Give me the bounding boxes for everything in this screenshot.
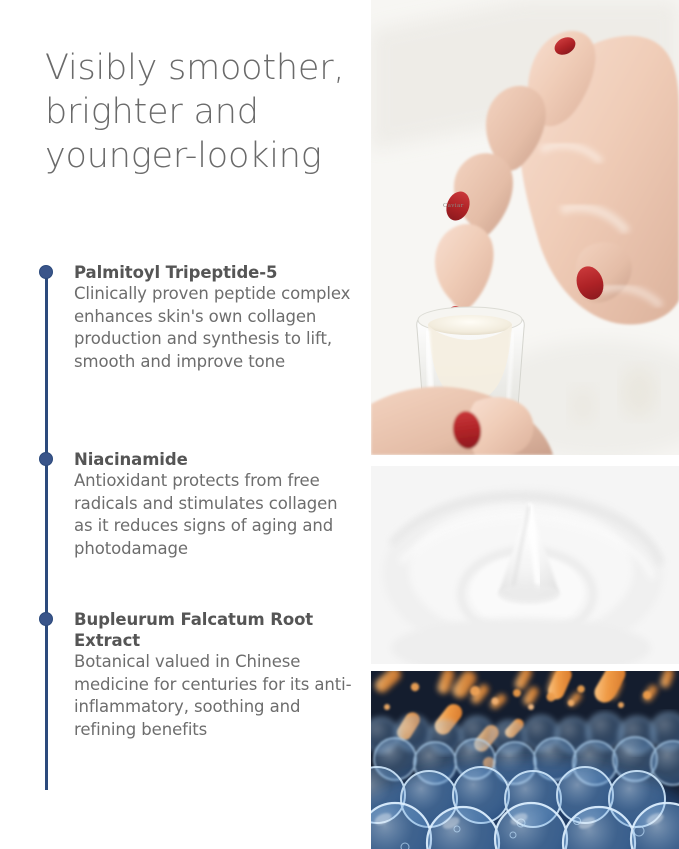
ingredient-body: Bupleurum Falcatum Root Extract Botanica…	[74, 609, 360, 741]
cells-and-capsules-illustration	[371, 671, 679, 849]
cream-swirl-illustration	[371, 466, 679, 664]
hands-illustration	[371, 0, 679, 455]
bullet-dot-icon	[39, 612, 53, 626]
ingredient-description: Botanical valued in Chinese medicine for…	[74, 651, 360, 741]
ingredient-body: Niacinamide Antioxidant protects from fr…	[74, 449, 360, 560]
ingredient-list: Palmitoyl Tripeptide-5 Clinically proven…	[0, 0, 371, 849]
jar-brand-label: Caviar	[443, 203, 464, 209]
bullet-dot-icon	[39, 265, 53, 279]
ingredient-title: Bupleurum Falcatum Root Extract	[74, 609, 360, 651]
ingredient-body: Palmitoyl Tripeptide-5 Clinically proven…	[74, 262, 360, 373]
bullet-dot-icon	[39, 452, 53, 466]
ingredient-title: Niacinamide	[74, 449, 360, 470]
ingredient-description: Clinically proven peptide complex enhanc…	[74, 283, 360, 373]
ingredient-title: Palmitoyl Tripeptide-5	[74, 262, 360, 283]
cream-texture-photo	[371, 466, 679, 664]
product-application-photo: Caviar	[371, 0, 679, 455]
ingredient-description: Antioxidant protects from free radicals …	[74, 470, 360, 560]
text-panel: Visibly smoother, brighter and younger-l…	[0, 0, 371, 849]
science-illustration-photo	[371, 671, 679, 849]
photo-column: Caviar	[371, 0, 679, 849]
